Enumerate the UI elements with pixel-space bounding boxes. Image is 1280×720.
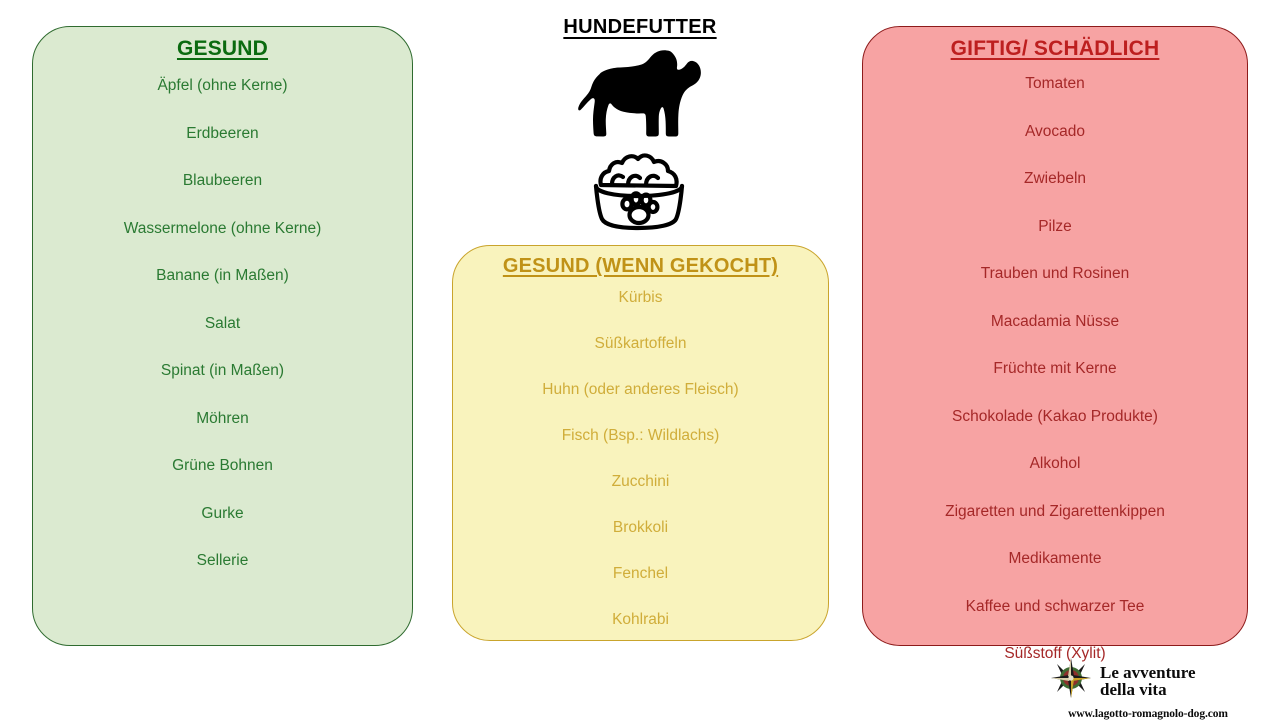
page-title: HUNDEFUTTER (450, 16, 830, 39)
list-item: Spinat (in Maßen) (33, 362, 412, 380)
infographic-canvas: HUNDEFUTTER (0, 0, 1280, 720)
list-item: Kürbis (453, 289, 828, 307)
list-item: Äpfel (ohne Kerne) (33, 77, 412, 95)
list-item: Fisch (Bsp.: Wildlachs) (453, 427, 828, 445)
list-item: Wassermelone (ohne Kerne) (33, 220, 412, 238)
list-item: Avocado (863, 123, 1247, 141)
logo-text: Le avventure della vita (1100, 664, 1196, 698)
list-item: Früchte mit Kerne (863, 360, 1247, 378)
panel-healthy-list: Äpfel (ohne Kerne) Erdbeeren Blaubeeren … (33, 77, 412, 570)
list-item: Erdbeeren (33, 125, 412, 143)
logo-text-line2: della vita (1100, 680, 1167, 699)
list-item: Salat (33, 315, 412, 333)
list-item: Grüne Bohnen (33, 457, 412, 475)
logo-url[interactable]: www.lagotto-romagnolo-dog.com (1048, 708, 1248, 720)
brand-logo[interactable]: Le avventure della vita www.lagotto-roma… (1048, 655, 1248, 713)
list-item: Zwiebeln (863, 170, 1247, 188)
list-item: Kaffee und schwarzer Tee (863, 598, 1247, 616)
dog-silhouette-icon (450, 45, 830, 145)
panel-healthy-title: GESUND (33, 27, 412, 61)
list-item: Tomaten (863, 75, 1247, 93)
list-item: Alkohol (863, 455, 1247, 473)
panel-toxic: GIFTIG/ SCHÄDLICH Tomaten Avocado Zwiebe… (862, 26, 1248, 646)
panel-toxic-list: Tomaten Avocado Zwiebeln Pilze Trauben u… (863, 75, 1247, 663)
compass-rose-icon (1048, 655, 1094, 706)
list-item: Medikamente (863, 550, 1247, 568)
list-item: Schokolade (Kakao Produkte) (863, 408, 1247, 426)
list-item: Sellerie (33, 552, 412, 570)
list-item: Fenchel (453, 565, 828, 583)
list-item: Pilze (863, 218, 1247, 236)
logo-row: Le avventure della vita (1048, 655, 1248, 706)
panel-healthy: GESUND Äpfel (ohne Kerne) Erdbeeren Blau… (32, 26, 413, 646)
panel-cooked-title: GESUND (WENN GEKOCHT) (453, 246, 828, 278)
list-item: Banane (in Maßen) (33, 267, 412, 285)
list-item: Blaubeeren (33, 172, 412, 190)
dog-food-bowl-icon (450, 147, 830, 233)
list-item: Süßkartoffeln (453, 335, 828, 353)
list-item: Brokkoli (453, 519, 828, 537)
panel-cooked-list: Kürbis Süßkartoffeln Huhn (oder anderes … (453, 289, 828, 629)
list-item: Kohlrabi (453, 611, 828, 629)
list-item: Gurke (33, 505, 412, 523)
panel-cooked: GESUND (WENN GEKOCHT) Kürbis Süßkartoffe… (452, 245, 829, 641)
list-item: Trauben und Rosinen (863, 265, 1247, 283)
list-item: Möhren (33, 410, 412, 428)
list-item: Zucchini (453, 473, 828, 491)
list-item: Macadamia Nüsse (863, 313, 1247, 331)
list-item: Huhn (oder anderes Fleisch) (453, 381, 828, 399)
center-header: HUNDEFUTTER (450, 0, 830, 233)
panel-toxic-title: GIFTIG/ SCHÄDLICH (863, 27, 1247, 61)
list-item: Zigaretten und Zigarettenkippen (863, 503, 1247, 521)
